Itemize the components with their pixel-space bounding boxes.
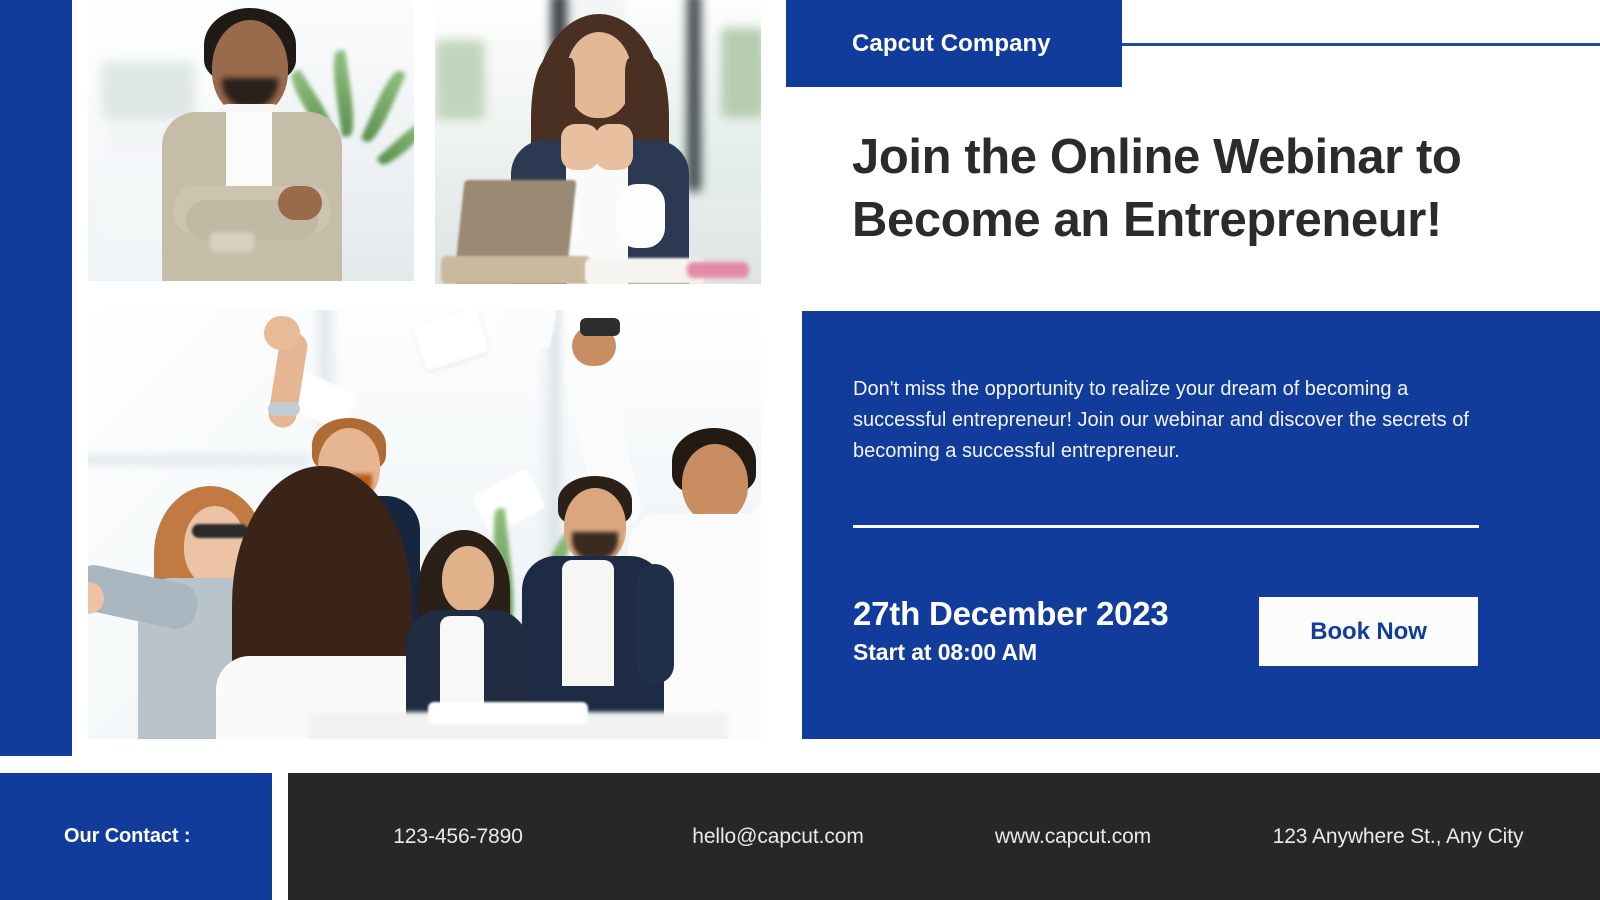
headline-line-2: Become an Entrepreneur! — [852, 193, 1442, 247]
event-date-block: 27th December 2023 Start at 08:00 AM — [853, 594, 1169, 666]
contact-label-badge: Our Contact : — [0, 773, 272, 900]
contact-phone[interactable]: 123-456-7890 — [288, 825, 628, 849]
left-accent-stripe — [0, 0, 72, 756]
event-date: 27th December 2023 — [853, 594, 1169, 634]
contact-website[interactable]: www.capcut.com — [928, 825, 1218, 849]
contact-email[interactable]: hello@capcut.com — [628, 825, 928, 849]
book-now-button[interactable]: Book Now — [1259, 597, 1478, 666]
webinar-poster: Capcut Company Join the Online Webinar t… — [0, 0, 1600, 900]
event-details-panel: Don't miss the opportunity to realize yo… — [802, 311, 1600, 739]
contact-label: Our Contact : — [0, 825, 190, 848]
contact-bar: 123-456-7890 hello@capcut.com www.capcut… — [288, 773, 1600, 900]
event-time: Start at 08:00 AM — [853, 639, 1169, 666]
event-description: Don't miss the opportunity to realize yo… — [853, 374, 1493, 467]
panel-divider — [853, 525, 1479, 528]
headline-line-1: Join the Online Webinar to — [852, 130, 1461, 184]
photo-team-celebration — [88, 310, 761, 739]
photo-businessman — [88, 0, 414, 281]
photo-businesswoman — [435, 0, 761, 284]
company-logo-badge: Capcut Company — [786, 0, 1122, 87]
page-title: Join the Online Webinar to Become an Ent… — [852, 126, 1532, 252]
contact-address: 123 Anywhere St., Any City — [1218, 825, 1578, 849]
company-name: Capcut Company — [786, 30, 1051, 58]
header-rule — [1122, 43, 1600, 46]
